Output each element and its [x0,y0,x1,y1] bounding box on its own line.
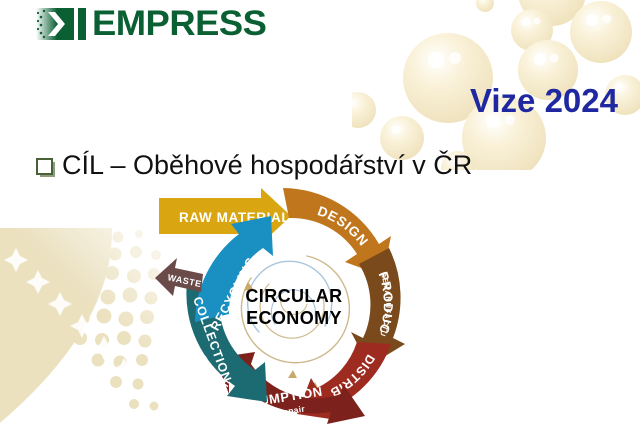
diagram-node-waste: WASTE [155,258,203,296]
square-bullet-icon [36,158,53,175]
diagram-node-raw-materials: RAW MATERIALS [159,188,300,244]
bullet-item-label: CÍL – Oběhové hospodářství v ČR [62,150,472,181]
diagram-center-title-line1: CIRCULAR [245,286,342,306]
chevron-right-logo-icon [34,4,86,44]
brand-name: EMPRESS [92,4,266,44]
page-title: Vize 2024 [470,82,618,120]
circular-economy-diagram: RAW MATERIALS DESIGN PRODUCTION REMANUFA… [155,186,435,425]
diagram-center-title-line2: ECONOMY [246,308,342,328]
brand-logo: EMPRESS [34,4,260,44]
slide-canvas: EMPRESS Vize 2024 CÍL – Oběhové hospodář… [0,0,640,425]
bullet-item: CÍL – Oběhové hospodářství v ČR [36,150,472,181]
